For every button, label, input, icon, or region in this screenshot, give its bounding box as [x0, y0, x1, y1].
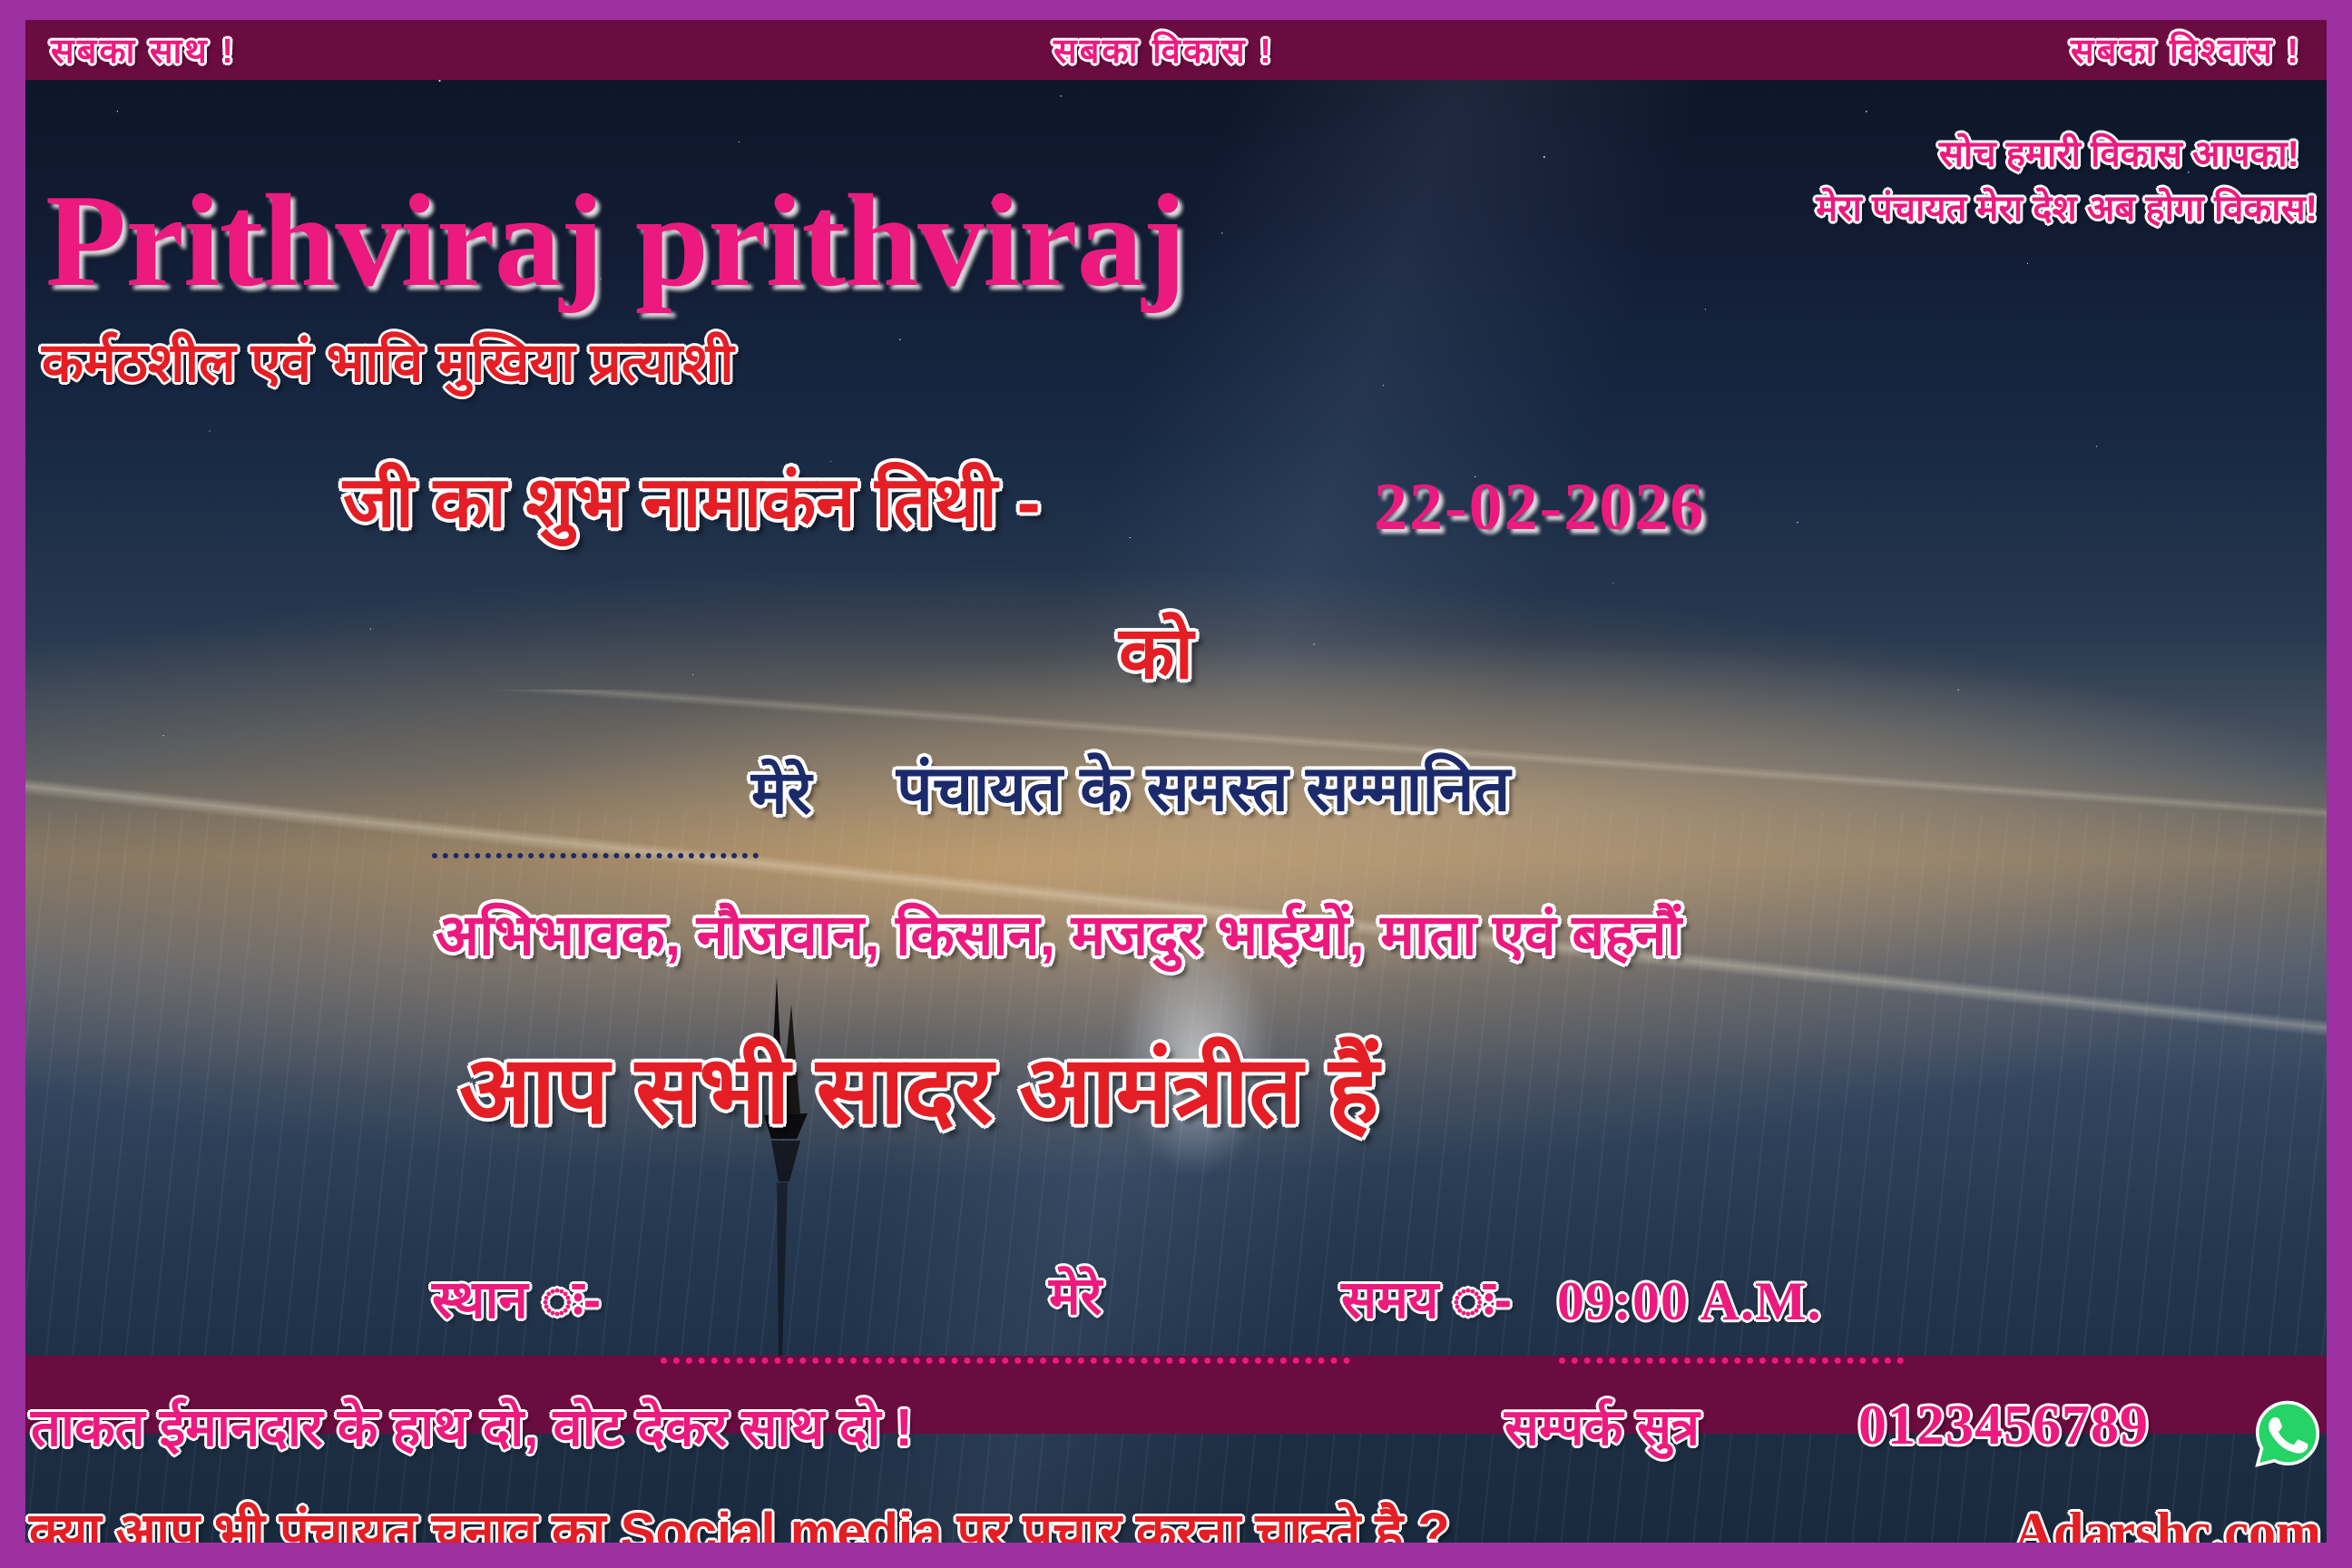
footer-slogan: ताकत ईमानदार के हाथ दो, वोट देकर साथ दो … [31, 1402, 913, 1455]
time-label: समय ः- [1341, 1274, 1512, 1327]
candidate-title: कर्मठशील एवं भावि मुखिया प्रत्याशी [42, 336, 734, 390]
venue-value: मेरे [1049, 1270, 1102, 1323]
invite-prefix-mere: मेरे [751, 762, 811, 822]
venue-dotted-line [661, 1357, 1350, 1364]
promo-text: क्या आप भी पंचायत चुनाव का Social media … [29, 1506, 1450, 1543]
contact-number: 0123456789 [1858, 1397, 2149, 1454]
nomination-date: 22-02-2026 [1374, 474, 1705, 541]
tagline-soch-hamari: सोच हमारी विकास आपका! [1939, 136, 2299, 172]
whatsapp-icon[interactable] [2253, 1399, 2322, 1468]
election-poster: सबका साथ ! सबका विकास ! सबका विश्वास ! स… [0, 0, 2352, 1568]
time-dotted-line [1559, 1357, 1904, 1364]
nomination-label: जी का शुभ नामाकंन तिथी - [343, 466, 1041, 537]
venue-label: स्थान ः- [432, 1274, 601, 1327]
slogan-sabka-vishwas: सबका विश्वास ! [2071, 34, 2301, 69]
invite-line-1: पंचायत के समस्त सम्मानित [897, 757, 1510, 820]
contact-label: सम्पर्क सुत्र [1504, 1402, 1700, 1453]
invite-line-3: आप सभी सादर आमंत्रीत हैं [459, 1044, 1379, 1138]
invite-prefix-dotted-line [432, 853, 759, 858]
time-value: 09:00 A.M. [1557, 1274, 1822, 1328]
poster-canvas: सबका साथ ! सबका विकास ! सबका विश्वास ! स… [25, 20, 2327, 1543]
promo-site[interactable]: Adarshc.com [2014, 1504, 2321, 1543]
sailboat-silhouette-icon [724, 977, 833, 1358]
candidate-name: Prithviraj prithviraj [45, 174, 1185, 307]
slogan-sabka-saath: सबका साथ ! [51, 34, 236, 69]
tagline-mera-panchayat: मेरा पंचायत मेरा देश अब होगा विकास! [1816, 191, 2318, 227]
slogan-sabka-vikas: सबका विकास ! [1053, 34, 1274, 69]
invite-line-2: अभिभावक, नौजवान, किसान, मजदुर भाईयों, मा… [436, 907, 1681, 965]
ko-word: को [1119, 617, 1193, 690]
